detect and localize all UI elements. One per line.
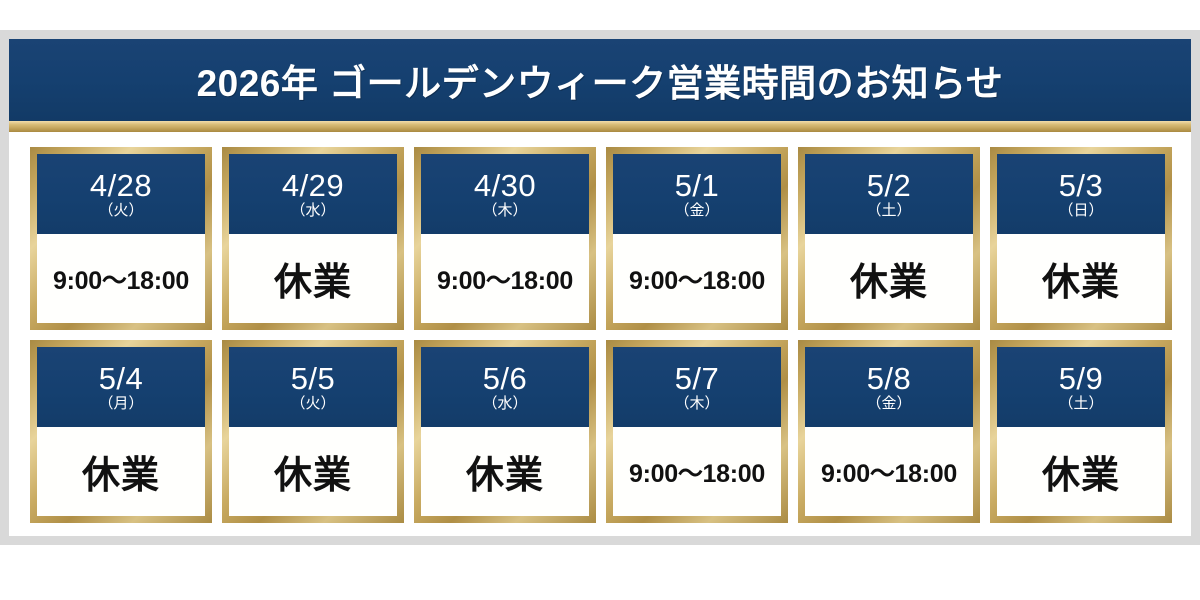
day-card-header: 4/28（火） xyxy=(37,154,205,234)
day-card-header: 5/6（水） xyxy=(421,347,589,427)
day-card-header: 5/4（月） xyxy=(37,347,205,427)
day-card: 5/7（木）9:00〜18:00 xyxy=(606,340,788,523)
closed-label: 休業 xyxy=(1042,444,1120,499)
business-hours-label: 9:00〜18:00 xyxy=(629,454,765,490)
business-hours-label: 9:00〜18:00 xyxy=(821,454,957,490)
day-card-body: 9:00〜18:00 xyxy=(613,234,781,323)
day-card-date: 5/8 xyxy=(867,363,912,395)
day-card: 4/29（水）休業 xyxy=(222,147,404,330)
poster-inner-surface: 2026年 ゴールデンウィーク営業時間のお知らせ 4/28（火）9:00〜18:… xyxy=(9,39,1191,536)
day-card-body: 休業 xyxy=(229,427,397,516)
day-card-date: 4/28 xyxy=(90,170,152,202)
title-gold-divider xyxy=(9,121,1191,132)
day-card-body: 9:00〜18:00 xyxy=(421,234,589,323)
day-card-header: 4/30（木） xyxy=(421,154,589,234)
day-card-weekday: （金） xyxy=(866,396,911,413)
closed-label: 休業 xyxy=(1042,251,1120,306)
day-card-weekday: （月） xyxy=(98,396,143,413)
closed-label: 休業 xyxy=(274,251,352,306)
day-card-date: 5/9 xyxy=(1059,363,1104,395)
day-card-body: 休業 xyxy=(229,234,397,323)
day-card-body: 9:00〜18:00 xyxy=(805,427,973,516)
day-card-date: 4/29 xyxy=(282,170,344,202)
day-card-body: 休業 xyxy=(997,427,1165,516)
day-card-header: 5/5（火） xyxy=(229,347,397,427)
closed-label: 休業 xyxy=(466,444,544,499)
day-card-date: 5/1 xyxy=(675,170,720,202)
closed-label: 休業 xyxy=(274,444,352,499)
day-card-body: 9:00〜18:00 xyxy=(37,234,205,323)
day-card-weekday: （水） xyxy=(290,203,335,220)
day-card-header: 5/2（土） xyxy=(805,154,973,234)
day-card: 5/6（水）休業 xyxy=(414,340,596,523)
title-banner: 2026年 ゴールデンウィーク営業時間のお知らせ xyxy=(9,39,1191,121)
day-card: 5/1（金）9:00〜18:00 xyxy=(606,147,788,330)
day-card-header: 5/9（土） xyxy=(997,347,1165,427)
day-card-body: 休業 xyxy=(805,234,973,323)
day-card-date: 5/6 xyxy=(483,363,528,395)
notice-poster: 2026年 ゴールデンウィーク営業時間のお知らせ 4/28（火）9:00〜18:… xyxy=(0,30,1200,545)
day-card-body: 休業 xyxy=(421,427,589,516)
day-card-header: 5/7（木） xyxy=(613,347,781,427)
day-card-date: 5/5 xyxy=(291,363,336,395)
day-card-weekday: （木） xyxy=(482,203,527,220)
day-card: 5/4（月）休業 xyxy=(30,340,212,523)
day-card: 5/8（金）9:00〜18:00 xyxy=(798,340,980,523)
day-card-weekday: （土） xyxy=(1058,396,1103,413)
day-card: 5/2（土）休業 xyxy=(798,147,980,330)
day-card-weekday: （金） xyxy=(674,203,719,220)
schedule-grid: 4/28（火）9:00〜18:004/29（水）休業4/30（木）9:00〜18… xyxy=(30,147,1172,523)
day-card-header: 5/3（日） xyxy=(997,154,1165,234)
day-card-date: 4/30 xyxy=(474,170,536,202)
day-card-date: 5/4 xyxy=(99,363,144,395)
closed-label: 休業 xyxy=(850,251,928,306)
day-card-body: 休業 xyxy=(997,234,1165,323)
day-card-header: 5/1（金） xyxy=(613,154,781,234)
day-card-date: 5/7 xyxy=(675,363,720,395)
business-hours-label: 9:00〜18:00 xyxy=(629,261,765,297)
day-card-date: 5/3 xyxy=(1059,170,1104,202)
day-card: 5/9（土）休業 xyxy=(990,340,1172,523)
day-card-weekday: （木） xyxy=(674,396,719,413)
day-card-body: 休業 xyxy=(37,427,205,516)
day-card-header: 4/29（水） xyxy=(229,154,397,234)
day-card: 4/28（火）9:00〜18:00 xyxy=(30,147,212,330)
business-hours-label: 9:00〜18:00 xyxy=(437,261,573,297)
day-card-date: 5/2 xyxy=(867,170,912,202)
closed-label: 休業 xyxy=(82,444,160,499)
day-card: 5/5（火）休業 xyxy=(222,340,404,523)
page-title: 2026年 ゴールデンウィーク営業時間のお知らせ xyxy=(197,53,1004,107)
day-card: 5/3（日）休業 xyxy=(990,147,1172,330)
day-card-body: 9:00〜18:00 xyxy=(613,427,781,516)
day-card: 4/30（木）9:00〜18:00 xyxy=(414,147,596,330)
day-card-weekday: （火） xyxy=(290,396,335,413)
business-hours-label: 9:00〜18:00 xyxy=(53,261,189,297)
day-card-weekday: （日） xyxy=(1058,203,1103,220)
day-card-weekday: （火） xyxy=(98,203,143,220)
day-card-weekday: （水） xyxy=(482,396,527,413)
day-card-weekday: （土） xyxy=(866,203,911,220)
day-card-header: 5/8（金） xyxy=(805,347,973,427)
